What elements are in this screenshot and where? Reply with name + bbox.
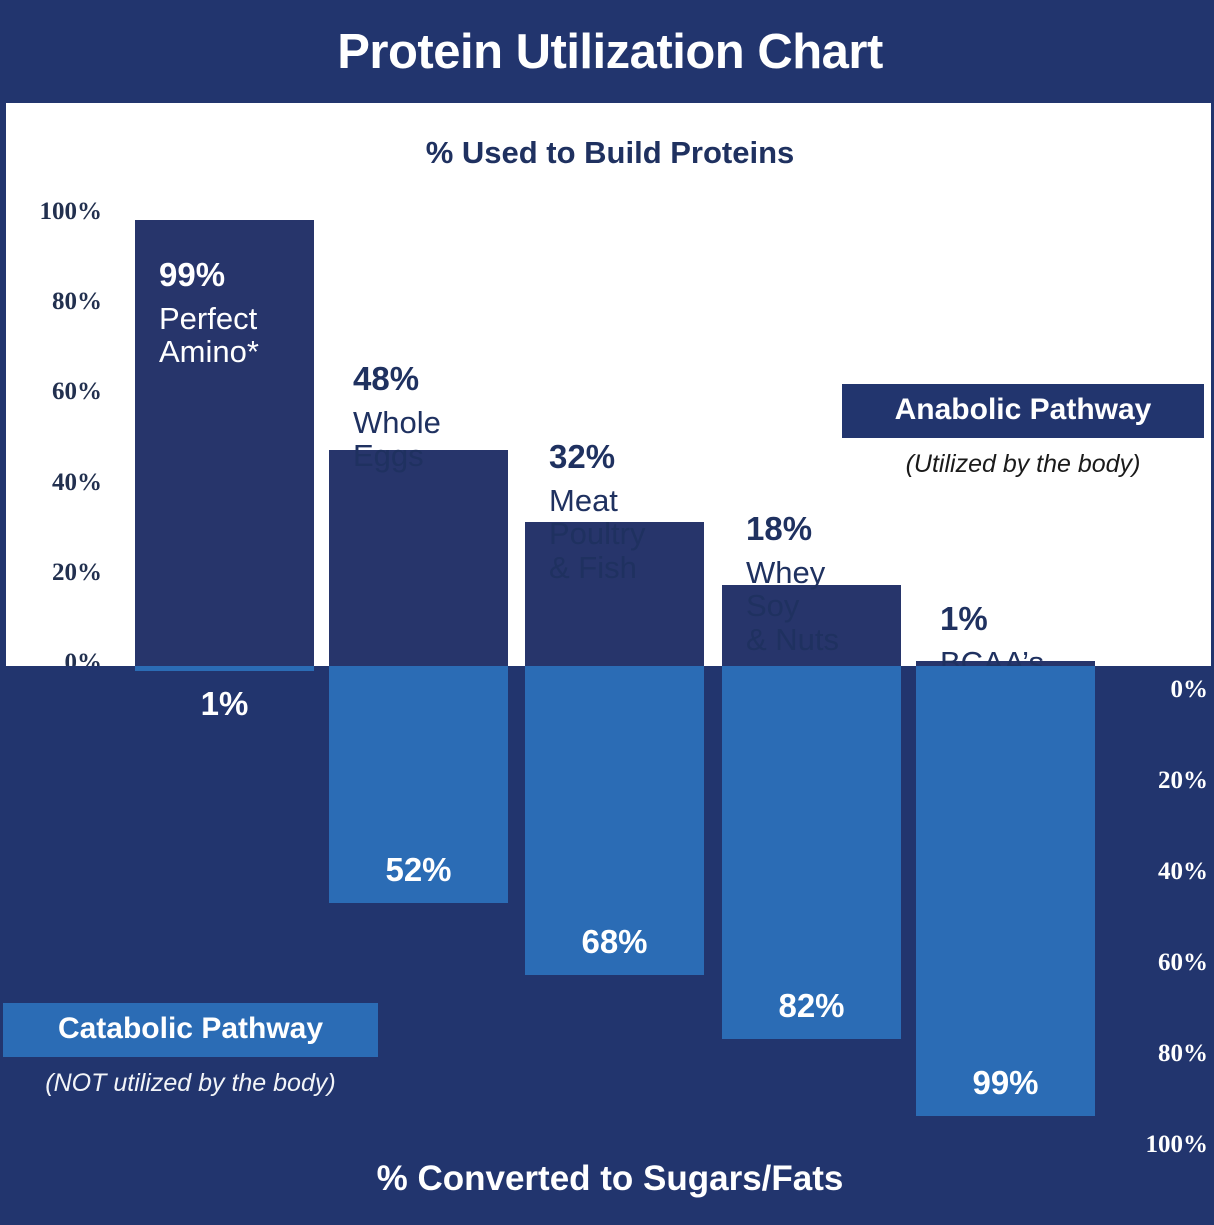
legend-anabolic-note: (Utilized by the body) <box>842 450 1204 479</box>
lower-axis-title: % Converted to Sugars/Fats <box>6 1159 1214 1199</box>
right-axis-tick: 80% <box>1108 1040 1208 1068</box>
bar-label-group: 48%Whole Eggs <box>353 361 441 473</box>
bar-value-used: 48% <box>353 361 441 397</box>
bar-category-name: Meat Poultry & Fish <box>549 484 645 584</box>
bar-value-used: 18% <box>746 511 839 547</box>
left-axis-tick: 40% <box>6 469 102 497</box>
bar-catabolic <box>135 666 314 671</box>
bar-anabolic <box>329 450 508 666</box>
bar-label-group: 1%BCAA’s <box>940 601 1044 666</box>
right-axis-tick: 100% <box>1108 1131 1208 1159</box>
bar-value-used: 32% <box>549 439 645 475</box>
chart-header: Protein Utilization Chart <box>3 3 1214 100</box>
legend-anabolic-label: Anabolic Pathway <box>842 384 1204 438</box>
protein-utilization-chart: Protein Utilization Chart % Used to Buil… <box>0 0 1214 1225</box>
catabolic-panel: 0%20%40%60%80%100% 1%52%68%82%99% % Conv… <box>6 666 1214 1225</box>
upper-axis-title: % Used to Build Proteins <box>6 135 1214 171</box>
bar-value-converted: 1% <box>201 685 249 723</box>
right-axis-tick: 20% <box>1108 767 1208 795</box>
bar-label-group: 99%Perfect Amino* <box>159 257 259 369</box>
bar-value-used: 1% <box>940 601 1044 637</box>
page-title: Protein Utilization Chart <box>337 24 883 80</box>
bar-value-converted: 68% <box>581 923 647 961</box>
bar-catabolic <box>916 666 1095 1116</box>
legend-catabolic-note: (NOT utilized by the body) <box>3 1069 378 1098</box>
legend-catabolic: Catabolic Pathway (NOT utilized by the b… <box>3 1003 378 1098</box>
left-axis-tick: 100% <box>6 198 102 226</box>
left-axis-tick: 60% <box>6 378 102 406</box>
bar-category-name: Whey Soy & Nuts <box>746 556 839 656</box>
right-axis-tick: 0% <box>1108 676 1208 704</box>
bar-value-converted: 82% <box>778 987 844 1025</box>
bar-value-used: 99% <box>159 257 259 293</box>
bar-catabolic <box>722 666 901 1039</box>
left-axis-tick: 0% <box>6 649 102 666</box>
bar-label-group: 18%Whey Soy & Nuts <box>746 511 839 656</box>
legend-anabolic: Anabolic Pathway (Utilized by the body) <box>842 384 1204 479</box>
bar-category-name: Whole Eggs <box>353 406 441 473</box>
bar-category-name: BCAA’s <box>940 646 1044 666</box>
bar-category-name: Perfect Amino* <box>159 302 259 369</box>
right-axis-tick: 60% <box>1108 949 1208 977</box>
anabolic-panel: % Used to Build Proteins 100%80%60%40%20… <box>6 103 1214 666</box>
bar-value-converted: 99% <box>972 1064 1038 1102</box>
right-axis-tick: 40% <box>1108 858 1208 886</box>
legend-catabolic-label: Catabolic Pathway <box>3 1003 378 1057</box>
left-axis-tick: 80% <box>6 288 102 316</box>
bar-value-converted: 52% <box>385 851 451 889</box>
bar-label-group: 32%Meat Poultry & Fish <box>549 439 645 584</box>
left-axis-tick: 20% <box>6 559 102 587</box>
